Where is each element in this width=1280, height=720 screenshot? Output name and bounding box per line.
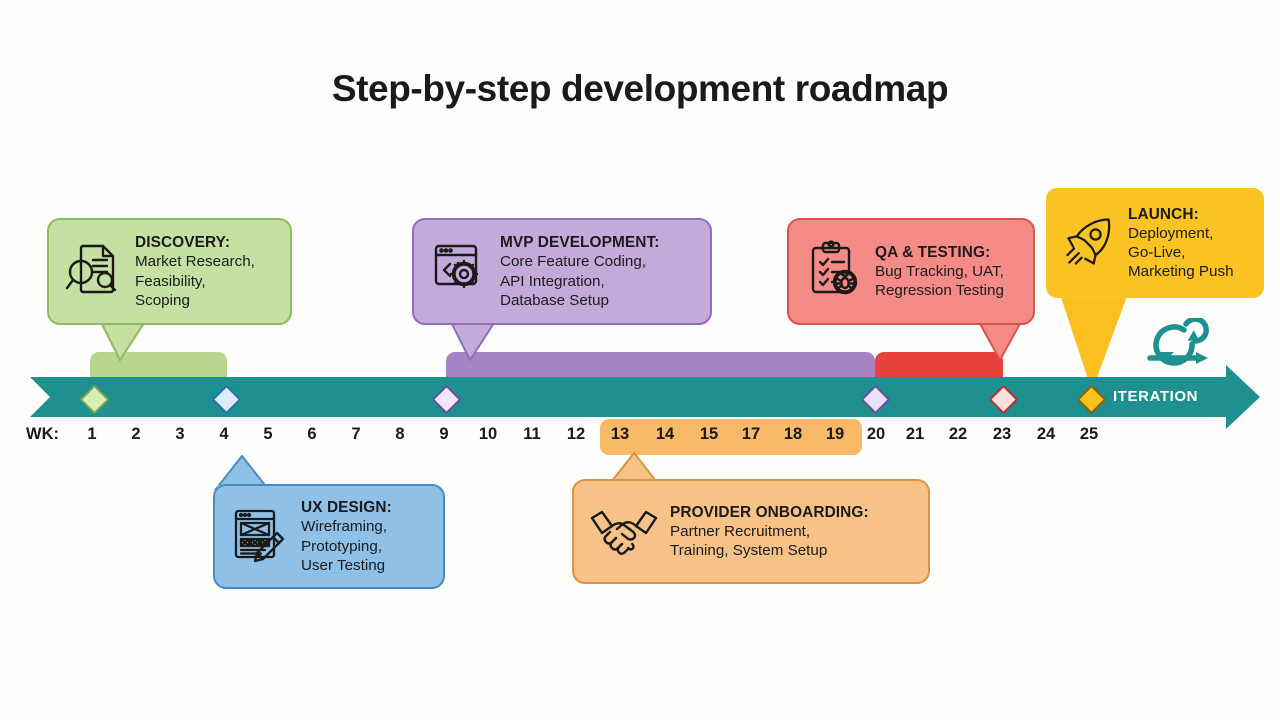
phase-card-launch[interactable]: LAUNCH: Deployment, Go-Live, Marketing P… [1046,188,1264,298]
week-tick: 5 [254,425,282,444]
week-tick: 10 [474,425,502,444]
week-tick: 23 [988,425,1016,444]
phase-card-qa-testing[interactable]: QA & TESTING: Bug Tracking, UAT, Regress… [787,218,1035,325]
phase-heading: QA & TESTING: [875,243,1004,262]
card-tail-mvp-development [450,320,510,362]
phase-heading: UX DESIGN: [301,498,392,517]
phase-line: Prototyping, [301,537,392,556]
week-axis-label: WK: [26,425,59,444]
wireframe-pencil-icon [229,503,291,570]
phase-heading: DISCOVERY: [135,233,255,252]
week-tick: 20 [862,425,890,444]
week-tick: 15 [695,425,723,444]
phase-card-text: DISCOVERY: Market Research, Feasibility,… [135,233,255,310]
phase-line: Deployment, [1128,224,1234,243]
phase-line: Core Feature Coding, [500,252,660,271]
phase-card-provider-onboarding[interactable]: PROVIDER ONBOARDING: Partner Recruitment… [572,479,930,584]
week-tick: 18 [779,425,807,444]
week-tick: 13 [606,425,634,444]
week-tick: 4 [210,425,238,444]
phase-card-text: PROVIDER ONBOARDING: Partner Recruitment… [670,503,869,561]
roadmap-canvas: Step-by-step development roadmap ITERATI… [0,0,1280,720]
week-tick: 12 [562,425,590,444]
timeline-bar [30,377,1226,417]
timeline-arrow-head [1226,365,1260,429]
phase-line: Wireframing, [301,517,392,536]
phase-card-text: QA & TESTING: Bug Tracking, UAT, Regress… [875,243,1004,301]
phase-card-discovery[interactable]: DISCOVERY: Market Research, Feasibility,… [47,218,292,325]
iteration-loop-icon [1140,318,1220,385]
phase-line: Market Research, [135,252,255,271]
phase-heading: LAUNCH: [1128,205,1234,224]
duration-bar-mvp [446,352,875,380]
iteration-label: ITERATION [1113,388,1198,405]
handshake-icon [588,498,660,565]
phase-line: Training, System Setup [670,541,869,560]
phase-line: API Integration, [500,272,660,291]
week-tick: 22 [944,425,972,444]
phase-card-mvp-development[interactable]: MVP DEVELOPMENT: Core Feature Coding, AP… [412,218,712,325]
phase-card-text: LAUNCH: Deployment, Go-Live, Marketing P… [1128,205,1234,282]
phase-line: Go-Live, [1128,243,1234,262]
week-number-row: WK: 1 2 3 4 5 6 7 8 9 10 11 12 13 14 15 … [0,425,1280,451]
phase-line: Regression Testing [875,281,1004,300]
week-tick: 19 [821,425,849,444]
clipboard-bug-icon [803,238,865,305]
phase-line: Scoping [135,291,255,310]
phase-card-text: MVP DEVELOPMENT: Core Feature Coding, AP… [500,233,660,310]
week-tick: 3 [166,425,194,444]
week-tick: 21 [901,425,929,444]
phase-line: Bug Tracking, UAT, [875,262,1004,281]
week-tick: 9 [430,425,458,444]
phase-card-text: UX DESIGN: Wireframing, Prototyping, Use… [301,498,392,575]
week-tick: 7 [342,425,370,444]
page-title: Step-by-step development roadmap [0,68,1280,110]
phase-heading: PROVIDER ONBOARDING: [670,503,869,522]
week-tick: 1 [78,425,106,444]
week-tick: 2 [122,425,150,444]
card-tail-qa-testing [978,320,1038,362]
week-tick: 14 [651,425,679,444]
phase-line: Marketing Push [1128,262,1234,281]
week-tick: 17 [737,425,765,444]
phase-heading: MVP DEVELOPMENT: [500,233,660,252]
phase-line: Partner Recruitment, [670,522,869,541]
week-tick: 6 [298,425,326,444]
card-tail-discovery [100,320,160,362]
rocket-icon [1060,212,1118,275]
document-magnifier-icon [63,238,125,305]
timeline-left-notch [30,377,50,417]
week-tick: 11 [518,425,546,444]
week-tick: 25 [1075,425,1103,444]
week-tick: 8 [386,425,414,444]
phase-card-ux-design[interactable]: UX DESIGN: Wireframing, Prototyping, Use… [213,484,445,589]
week-tick: 24 [1032,425,1060,444]
phase-line: Database Setup [500,291,660,310]
phase-line: Feasibility, [135,272,255,291]
phase-line: User Testing [301,556,392,575]
code-gear-icon [428,238,490,305]
